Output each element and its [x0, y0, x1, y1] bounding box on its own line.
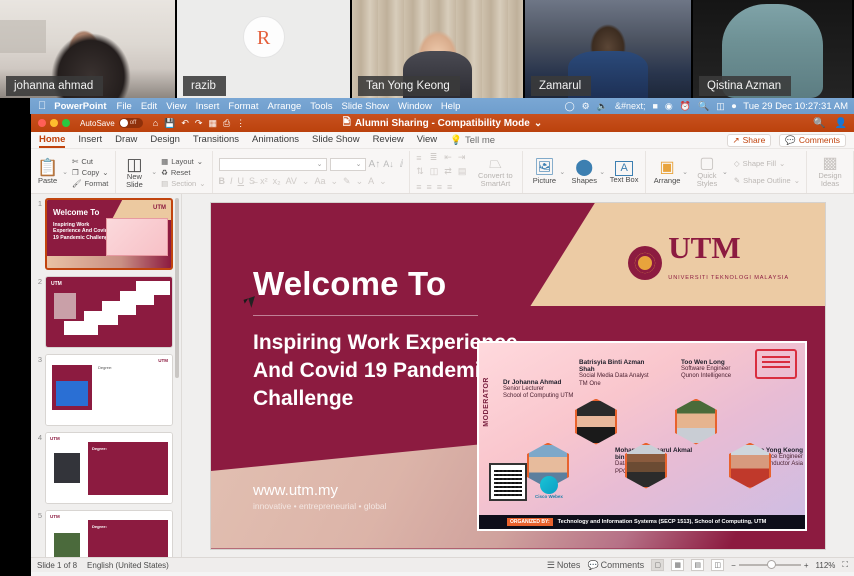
chevron-down-icon[interactable]: ⌄ — [534, 118, 542, 129]
organizer-text: Technology and Information Systems (SECP… — [558, 519, 767, 525]
thumbnail-row[interactable]: 4 UTM Degree: — [31, 432, 181, 504]
comments-button[interactable]: 💬 Comments — [779, 134, 846, 147]
autosave-state-label: off — [130, 120, 137, 126]
slide-sorter-button[interactable]: ▦ — [671, 559, 684, 571]
thumb-text: Degree: — [88, 520, 168, 534]
battery-icon[interactable]: ■ — [652, 101, 657, 111]
thumb-step — [136, 281, 170, 295]
slide-thumbnail-1[interactable]: UTM Welcome To Inspiring Work Experience… — [45, 198, 173, 270]
menu-arrange[interactable]: Arrange — [267, 101, 301, 112]
convert-smartart-label: Convert to SmartArt — [474, 172, 516, 188]
avatar: R — [243, 16, 285, 58]
thumb-text: Degree: — [98, 365, 168, 371]
section-label: Section — [171, 179, 196, 188]
speaker-info-3: Too Wen Long Software Engineer Qunon Int… — [681, 359, 763, 381]
ribbon-group-paragraph: ≡ ≣ ⇤ ⇥ ⇅ ◫ ⇄ ▤ ≡ ≡ ≡ ≡ — [410, 151, 523, 193]
shapes-label: Shapes — [572, 176, 597, 185]
numbering-button[interactable]: ≣ — [430, 152, 439, 163]
scissors-icon: ✄ — [72, 157, 78, 166]
webex-icon — [540, 476, 558, 494]
slide-number: 5 — [33, 510, 45, 520]
tab-transitions[interactable]: Transitions — [193, 134, 239, 146]
slide-title: Welcome To — [253, 265, 446, 303]
save-icon[interactable]: 💾 — [164, 118, 175, 129]
menu-view[interactable]: View — [166, 101, 186, 112]
slide-number: 3 — [33, 354, 45, 364]
redo-icon[interactable]: ↷ — [195, 118, 203, 129]
organized-by-banner: ORGANIZED BY: Technology and Information… — [479, 515, 805, 529]
justify-button[interactable]: ≡ — [447, 182, 452, 192]
speaker-org: School of Computing UTM — [503, 393, 573, 399]
slide-thumbnail-pane[interactable]: 1 UTM Welcome To Inspiring Work Experien… — [31, 194, 182, 557]
share-button[interactable]: ↗ Share — [727, 134, 772, 147]
design-ideas-icon: ▩ — [822, 156, 837, 172]
window-title-group: 🖹 Alumni Sharing - Compatibility Mode ⌄ — [343, 115, 542, 132]
superscript-button[interactable]: x² — [260, 176, 268, 186]
new-slide-icon: ◫ — [126, 156, 142, 173]
textbox-icon: A — [615, 161, 632, 176]
slide-website: www.utm.my — [253, 482, 387, 499]
display-icon[interactable]: ◫ — [716, 101, 725, 112]
reset-label: Reset — [171, 168, 191, 177]
speaker-role: Senior Lecturer — [503, 386, 544, 392]
slide-thumbnail-2[interactable]: UTM — [45, 276, 173, 348]
menu-tools[interactable]: Tools — [310, 101, 332, 112]
tab-review[interactable]: Review — [373, 134, 404, 146]
video-tile-participant[interactable]: Zamarul — [525, 0, 693, 98]
presentation-icon: 🖹 — [343, 115, 351, 132]
minimize-window-button[interactable] — [50, 119, 58, 127]
slide-thumbnail-3[interactable]: UTM Degree: — [45, 354, 173, 426]
thumb-photo — [54, 453, 80, 483]
share-label: Share — [743, 135, 766, 145]
font-family-input[interactable]: ⌄ — [219, 158, 327, 171]
zoom-track[interactable] — [739, 564, 801, 566]
zoom-level[interactable]: 112% — [816, 561, 836, 570]
comments-label: Comments — [799, 135, 840, 145]
thumb-photo — [52, 365, 92, 410]
comment-icon: 💬 — [587, 560, 598, 571]
ribbon-group-drawing: ▣ Arrange ⌄ ▢ Quick Styles ⌄ ◇ Shape Fil… — [646, 151, 807, 193]
thumbnail-row[interactable]: 1 UTM Welcome To Inspiring Work Experien… — [31, 198, 181, 270]
traffic-light-buttons[interactable] — [38, 119, 70, 127]
quick-styles-button[interactable]: ▢ Quick Styles — [692, 156, 722, 188]
ribbon-group-insert: 🖼 Picture ⌄ ⬤ Shapes ⌄ A Text Box — [523, 151, 646, 193]
increase-indent-button[interactable]: ⇥ — [458, 152, 467, 163]
font-size-input[interactable]: ⌄ — [330, 158, 366, 171]
customize-icon[interactable]: ⋮ — [236, 118, 245, 129]
paintbrush-icon: 🖌 — [72, 179, 82, 188]
utm-seal-icon — [628, 246, 662, 280]
menu-app-name[interactable]: PowerPoint — [54, 101, 106, 112]
participant-name-label: johanna ahmad — [6, 76, 103, 96]
chevron-down-icon[interactable]: ⌄ — [302, 176, 310, 187]
increase-font-size-button[interactable]: A↑ — [369, 159, 381, 170]
layout-icon: ▦ — [161, 157, 168, 166]
shapes-button[interactable]: ⬤ Shapes — [569, 160, 599, 185]
smartart-icon: ⏢ — [489, 156, 502, 172]
text-box-button[interactable]: A Text Box — [609, 161, 639, 184]
speaker-org: TM One — [579, 381, 601, 387]
wifi-icon[interactable]: ◉ — [665, 101, 673, 112]
speaker-info-2: Batrisyia Binti Azman Shah Social Media … — [579, 359, 661, 389]
thumbnail-row[interactable]: 5 UTM Degree: — [31, 510, 181, 557]
strikethrough-button[interactable]: S̶ — [249, 176, 255, 186]
mac-menu-bar:  PowerPoint File Edit View Insert Forma… — [30, 98, 854, 114]
volume-icon[interactable]: 🔈 — [597, 101, 608, 112]
thumbnail-row[interactable]: 3 UTM Degree: — [31, 354, 181, 426]
autosave-toggle[interactable]: off — [119, 118, 143, 128]
section-button[interactable]: ▤ Section ⌄ — [161, 179, 205, 188]
italic-button[interactable]: I — [230, 176, 233, 186]
align-center-button[interactable]: ≡ — [427, 182, 432, 192]
align-left-button[interactable]: ≡ — [416, 182, 421, 192]
decrease-font-size-button[interactable]: A↓ — [383, 159, 394, 169]
quick-access-toolbar: ⌂ 💾 ↶ ↷ ▦ ⎙ ⋮ — [153, 118, 245, 129]
text-highlight-button[interactable]: ✎ — [343, 176, 351, 187]
columns-button[interactable]: ◫ — [430, 166, 439, 177]
arrange-icon: ▣ — [660, 160, 675, 176]
thumb-utm-logo: UTM — [51, 281, 62, 287]
slide-tagline: innovative • entrepreneurial • global — [253, 501, 387, 511]
chevron-down-icon[interactable]: ⌄ — [356, 176, 364, 187]
chevron-down-icon[interactable]: ⌄ — [197, 157, 203, 166]
character-spacing-button[interactable]: AV — [286, 176, 297, 186]
titlebar-right-icons: 🔍 👤 — [813, 118, 847, 129]
fit-to-window-icon[interactable]: ⛶ — [842, 560, 848, 570]
speaker-name: Too Wen Long — [681, 359, 763, 366]
thumbnail-scrollbar[interactable] — [175, 198, 179, 378]
text-direction-button[interactable]: ⇄ — [444, 166, 452, 177]
speaker-role: Social Media Data Analyst — [579, 373, 649, 379]
participant-name-label: Qistina Azman — [699, 76, 791, 96]
paste-label: Paste — [38, 176, 57, 185]
clear-formatting-icon[interactable]: ⅈ — [400, 159, 404, 170]
speaker-info-moderator: Dr Johanna Ahmad Senior Lecturer School … — [503, 379, 577, 401]
new-slide-button[interactable]: ◫ New Slide — [122, 156, 148, 189]
bullets-button[interactable]: ≡ — [416, 153, 424, 163]
current-slide[interactable]: UTM UNIVERSITI TEKNOLOGI MALAYSIA Welcom… — [211, 203, 825, 549]
utm-name: UTM — [668, 230, 740, 265]
textbox-label: Text Box — [610, 176, 639, 184]
align-text-button[interactable]: ▤ — [458, 166, 467, 177]
thumb-utm-logo: UTM — [153, 205, 166, 211]
editor-body: 1 UTM Welcome To Inspiring Work Experien… — [31, 194, 854, 557]
copy-label: Copy — [82, 168, 100, 177]
webex-label: Cisco Webex — [535, 494, 563, 499]
ribbon-group-font: ⌄ ⌄ A↑ A↓ ⅈ B I U S̶ x² — [213, 151, 411, 193]
chevron-down-icon[interactable]: ⌄ — [317, 160, 323, 168]
autosave-control[interactable]: AutoSave off — [80, 118, 143, 128]
slide-number: 2 — [33, 276, 45, 286]
ribbon-group-slides: ◫ New Slide ⌄ ▦ Layout ⌄ ♻ Reset — [116, 151, 213, 193]
tab-slide-show[interactable]: Slide Show — [312, 134, 360, 146]
language-indicator[interactable]: English (United States) — [87, 561, 169, 570]
underline-button[interactable]: U — [238, 176, 245, 186]
line-spacing-button[interactable]: ⇅ — [416, 166, 424, 177]
shape-fill-button[interactable]: ◇ Shape Fill ⌄ — [734, 159, 800, 168]
chevron-down-icon[interactable]: ⌄ — [379, 176, 387, 187]
thumb-bottom-band — [47, 256, 171, 268]
clipboard-icon: 📋 — [37, 159, 58, 176]
share-icon: ↗ — [733, 135, 740, 146]
speaker-name: Dr Johanna Ahmad — [503, 379, 577, 386]
thumb-utm-logo: UTM — [50, 436, 60, 441]
chevron-down-icon[interactable]: ⌄ — [599, 168, 605, 176]
font-color-button[interactable]: A — [368, 176, 374, 186]
shape-fill-label: Shape Fill — [743, 159, 776, 168]
section-icon: ▤ — [161, 179, 168, 188]
webex-logo: Cisco Webex — [535, 476, 563, 499]
zoom-out-button[interactable]: − — [731, 561, 736, 570]
thumb-text: Degree: — [88, 442, 168, 456]
thumb-utm-logo: UTM — [50, 514, 60, 519]
zoom-slider[interactable]: − + — [731, 561, 808, 570]
menu-insert[interactable]: Insert — [196, 101, 220, 112]
design-ideas-button[interactable]: ▩ Design Ideas — [813, 156, 847, 188]
chevron-down-icon[interactable]: ⌄ — [794, 176, 800, 185]
thumb-photo — [54, 293, 76, 319]
speaker-role: Software Engineer — [681, 366, 730, 372]
chevron-down-icon[interactable]: ⌄ — [779, 159, 785, 168]
ribbon-group-clipboard: 📋 Paste ⌄ ✄ Cut ❐ Copy ⌄ — [31, 151, 116, 193]
ribbon-group-designer: ▩ Design Ideas — [807, 151, 854, 193]
menu-edit[interactable]: Edit — [141, 101, 157, 112]
chevron-down-icon[interactable]: ⌄ — [199, 179, 205, 188]
video-tile-participant[interactable]: Tan Yong Keong — [352, 0, 525, 98]
chevron-down-icon[interactable]: ⌄ — [330, 176, 338, 187]
undo-icon[interactable]: ↶ — [181, 118, 189, 129]
slide-counter[interactable]: Slide 1 of 8 — [37, 561, 77, 570]
participant-name-label: Zamarul — [531, 76, 591, 96]
picture-icon: 🖼 — [534, 160, 554, 176]
lightbulb-icon: 💡 — [450, 135, 462, 146]
utm-tagline: UNIVERSITI TEKNOLOGI MALAYSIA — [668, 263, 789, 293]
fill-icon: ◇ — [734, 159, 740, 168]
window-titlebar: AutoSave off ⌂ 💾 ↶ ↷ ▦ ⎙ ⋮ 🖹 Alumni Shar… — [31, 114, 854, 132]
slide-website-block: www.utm.my innovative • entrepreneurial … — [253, 482, 387, 511]
qr-code — [489, 463, 527, 501]
thumb-title: Welcome To — [53, 208, 99, 217]
thumb-poster-image — [106, 218, 168, 256]
ribbon-toolbar: 📋 Paste ⌄ ✄ Cut ❐ Copy ⌄ — [31, 149, 854, 194]
menu-file[interactable]: File — [117, 101, 132, 112]
comment-icon: 💬 — [785, 135, 796, 146]
organized-by-label: ORGANIZED BY: — [507, 518, 553, 526]
participant-name-label: Tan Yong Keong — [358, 76, 460, 96]
comments-button[interactable]: 💬 Comments — [587, 560, 644, 571]
format-label: Format — [85, 179, 109, 188]
tab-home[interactable]: Home — [39, 134, 65, 146]
tab-animations[interactable]: Animations — [252, 134, 299, 146]
bold-button[interactable]: B — [219, 176, 226, 186]
menu-help[interactable]: Help — [441, 101, 461, 112]
chevron-down-icon[interactable]: ⌄ — [62, 168, 68, 176]
event-poster-image[interactable]: MODERATOR Dr Johanna Ahmad Senior Lectur… — [477, 341, 807, 531]
video-tile-participant[interactable]: R razib — [177, 0, 352, 98]
slide-thumbnail-4[interactable]: UTM Degree: — [45, 432, 173, 504]
chevron-down-icon[interactable]: ⌄ — [682, 168, 688, 176]
moderator-label: MODERATOR — [483, 377, 490, 427]
powerpoint-window: AutoSave off ⌂ 💾 ↶ ↷ ▦ ⎙ ⋮ 🖹 Alumni Shar… — [30, 114, 854, 576]
tell-me-label: Tell me — [465, 135, 495, 146]
zoom-window-button[interactable] — [62, 119, 70, 127]
menu-slide-show[interactable]: Slide Show — [341, 101, 389, 112]
status-bar: Slide 1 of 8 English (United States) ☰ N… — [31, 557, 854, 572]
record-icon[interactable]: ⏺ — [732, 101, 737, 112]
design-ideas-label: Design Ideas — [813, 172, 847, 188]
normal-view-button[interactable]: ▢ — [651, 559, 664, 571]
layout-label: Layout — [171, 157, 194, 166]
quick-styles-label: Quick Styles — [692, 172, 722, 188]
arrange-label: Arrange — [654, 176, 681, 185]
arrange-button[interactable]: ▣ Arrange — [652, 160, 682, 185]
tell-me-box[interactable]: 💡 Tell me — [450, 135, 495, 146]
speaker-org: Qunon Intelligence — [681, 373, 731, 379]
slide-thumbnail-5[interactable]: UTM Degree: — [45, 510, 173, 557]
slide-number: 4 — [33, 432, 45, 442]
chevron-down-icon[interactable]: ⌄ — [559, 168, 565, 176]
notes-button[interactable]: ☰ Notes — [547, 560, 581, 571]
bluetooth-icon[interactable]: &#next; — [615, 101, 646, 111]
decrease-indent-button[interactable]: ⇤ — [444, 152, 452, 163]
tab-view[interactable]: View — [417, 134, 437, 146]
picture-label: Picture — [533, 176, 556, 185]
paste-button[interactable]: 📋 Paste — [37, 159, 58, 185]
shapes-icon: ⬤ — [575, 160, 593, 176]
slideshow-button[interactable]: ◫ — [711, 559, 724, 571]
speaker-photo-3 — [675, 399, 717, 445]
copy-button[interactable]: ❐ Copy ⌄ — [72, 168, 109, 177]
gear-icon[interactable]: ⚙ — [582, 101, 590, 112]
chevron-down-icon[interactable]: ⌄ — [722, 168, 728, 176]
zoom-in-button[interactable]: + — [804, 561, 809, 570]
search-icon[interactable]: 🔍 — [698, 101, 709, 112]
tab-insert[interactable]: Insert — [78, 134, 102, 146]
present-icon[interactable]: ▦ — [208, 118, 217, 129]
speaker-name: Batrisyia Binti Azman Shah — [579, 359, 661, 374]
close-window-button[interactable] — [38, 119, 46, 127]
slide-divider — [253, 315, 478, 316]
thumb-utm-logo: UTM — [158, 358, 168, 363]
video-conference-strip: johanna ahmad R razib Tan Yong Keong Zam… — [0, 0, 854, 98]
zoom-knob[interactable] — [767, 560, 776, 569]
video-tile-participant[interactable]: Qistina Azman — [693, 0, 854, 98]
align-right-button[interactable]: ≡ — [437, 182, 442, 192]
format-painter-button[interactable]: 🖌 Format — [72, 179, 109, 188]
slide-number: 1 — [33, 198, 45, 208]
subscript-button[interactable]: x₂ — [273, 176, 281, 186]
chevron-down-icon[interactable]: ⌄ — [151, 168, 157, 176]
utm-wordmark: UTM UNIVERSITI TEKNOLOGI MALAYSIA — [668, 233, 789, 293]
new-slide-label: New Slide — [122, 173, 148, 189]
home-icon[interactable]: ⌂ — [153, 118, 158, 128]
menubar-clock[interactable]: Tue 29 Dec 10:27:31 AM — [743, 101, 848, 112]
account-icon[interactable]: 👤 — [835, 118, 847, 129]
search-icon[interactable]: 🔍 — [813, 118, 825, 129]
window-title: Alumni Sharing - Compatibility Mode — [355, 118, 530, 129]
change-case-button[interactable]: Aa — [314, 176, 325, 186]
chevron-down-icon[interactable]: ⌄ — [102, 168, 108, 177]
chevron-down-icon[interactable]: ⌄ — [356, 160, 362, 168]
notes-icon: ☰ — [547, 560, 555, 571]
timemachine-icon[interactable]: ⏰ — [680, 101, 691, 112]
print-icon[interactable]: ⎙ — [223, 118, 230, 129]
reset-button[interactable]: ♻ Reset — [161, 168, 205, 177]
shape-outline-button[interactable]: ✎ Shape Outline ⌄ — [734, 176, 800, 185]
outline-icon: ✎ — [734, 176, 740, 185]
ribbon-tab-bar: Home Insert Draw Design Transitions Anim… — [31, 132, 854, 149]
autosave-label: AutoSave — [80, 119, 115, 128]
thumbnail-row[interactable]: 2 UTM — [31, 276, 181, 348]
video-tile-participant[interactable]: johanna ahmad — [0, 0, 177, 98]
toggle-knob — [120, 119, 128, 127]
picture-button[interactable]: 🖼 Picture — [529, 160, 559, 185]
cut-button[interactable]: ✄ Cut — [72, 157, 109, 166]
reset-icon: ♻ — [161, 168, 168, 177]
copy-icon: ❐ — [72, 168, 79, 177]
notes-label: Notes — [557, 560, 581, 570]
thumb-textbox: Degree: — [88, 442, 168, 495]
comments-label: Comments — [601, 560, 645, 570]
layout-button[interactable]: ▦ Layout ⌄ — [161, 157, 205, 166]
thumb-subtitle: Inspiring Work Experience And Covid 19 P… — [53, 222, 111, 241]
siri-icon[interactable]: ◯ — [565, 101, 575, 112]
thumb-photo — [54, 533, 80, 557]
speaker-photo-2 — [575, 399, 617, 445]
convert-to-smartart-button[interactable]: ⏢ Convert to SmartArt — [474, 156, 516, 188]
apple-icon[interactable]:  — [38, 100, 46, 112]
reading-view-button[interactable]: ▤ — [691, 559, 704, 571]
menu-window[interactable]: Window — [398, 101, 432, 112]
thumb-textbox: Degree: — [88, 520, 168, 557]
menu-format[interactable]: Format — [228, 101, 258, 112]
utm-logo: UTM UNIVERSITI TEKNOLOGI MALAYSIA — [628, 233, 789, 293]
quick-styles-icon: ▢ — [699, 156, 714, 172]
shape-outline-label: Shape Outline — [743, 176, 791, 185]
tab-design[interactable]: Design — [150, 134, 180, 146]
participant-name-label: razib — [183, 76, 226, 96]
tab-draw[interactable]: Draw — [115, 134, 137, 146]
slide-editor-pane[interactable]: UTM UNIVERSITI TEKNOLOGI MALAYSIA Welcom… — [182, 194, 854, 557]
cut-label: Cut — [81, 157, 93, 166]
